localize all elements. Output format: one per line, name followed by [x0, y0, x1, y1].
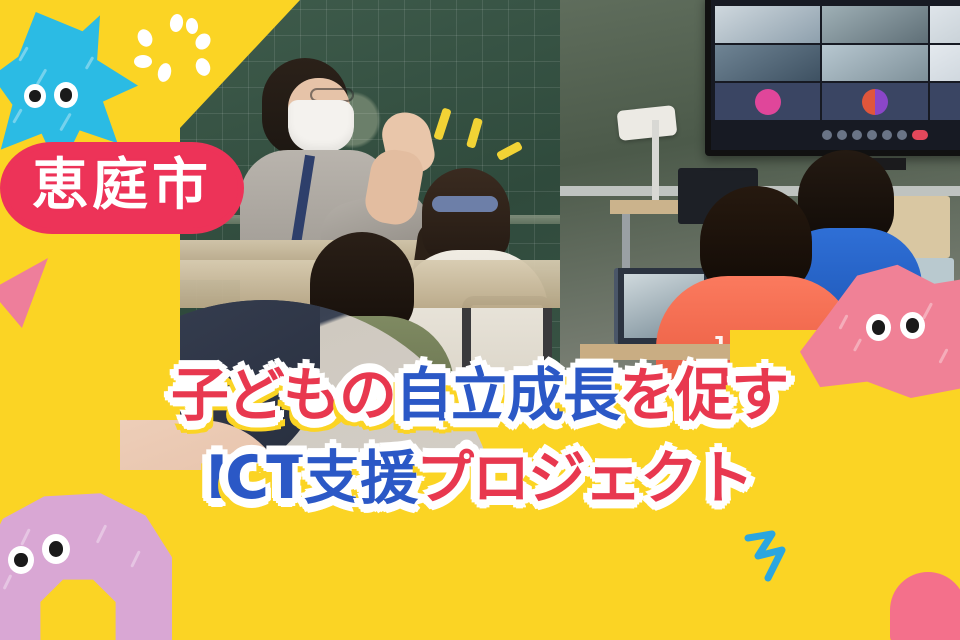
headline-char: 子: [169, 358, 231, 434]
headline-char: ェ: [582, 441, 644, 517]
headline: 子どもの自立成長を促す ICT支援プロジェクト: [0, 358, 960, 518]
headline-char: C: [223, 440, 270, 518]
video-tile: [822, 45, 927, 82]
share-screen-icon: [882, 130, 892, 140]
video-tile: [930, 45, 960, 82]
sparkle-dot-icon: [134, 55, 152, 68]
headline-char: も: [281, 358, 343, 434]
eye-icon: [42, 534, 70, 564]
video-call-control-bar: [711, 124, 960, 146]
eye-icon: [866, 314, 891, 341]
large-display-monitor: [705, 0, 960, 156]
city-badge: 恵庭市: [6, 148, 238, 228]
chalk-dash-icon: [433, 107, 451, 140]
headline-char: 援: [358, 441, 420, 517]
headline-char: 立: [449, 358, 511, 434]
headline-char: ジ: [526, 441, 588, 517]
participants-icon: [852, 130, 862, 140]
headline-char: プ: [414, 441, 476, 517]
eye-icon: [8, 546, 34, 574]
headline-line-1: 子どもの自立成長を促す: [172, 358, 788, 434]
headline-line-2: ICT支援プロジェクト: [207, 440, 753, 518]
headline-char: 長: [561, 358, 623, 434]
video-tile: [715, 6, 820, 43]
headline-char: の: [337, 358, 399, 434]
video-tile: [822, 6, 927, 43]
headline-char: ど: [225, 358, 287, 434]
city-badge-pill: 恵庭市: [6, 148, 238, 228]
eye-icon: [900, 312, 925, 339]
camera-icon: [837, 130, 847, 140]
headline-char: 促: [673, 358, 735, 434]
hangup-icon: [912, 130, 928, 140]
video-tile: [715, 45, 820, 82]
headline-char: ロ: [470, 441, 532, 517]
chat-icon: [867, 130, 877, 140]
headline-char: ク: [638, 441, 700, 517]
face-mask-icon: [288, 100, 354, 152]
hair-band: [432, 196, 498, 212]
avatar: [755, 89, 781, 115]
headline-char: 成: [505, 358, 567, 434]
video-tile: [930, 6, 960, 43]
video-tile-avatar: [822, 83, 927, 120]
chalk-dash-icon: [466, 117, 483, 148]
eye-icon: [54, 82, 78, 108]
headline-char: す: [729, 358, 791, 434]
eye-icon: [24, 84, 46, 108]
headline-char: ト: [694, 441, 756, 517]
video-tile-avatar: [715, 83, 820, 120]
promo-banner: JAPAN: [0, 0, 960, 640]
more-options-icon: [897, 130, 907, 140]
video-call-grid: [715, 6, 960, 120]
document-camera-pole: [652, 120, 659, 210]
document-camera: [617, 105, 678, 141]
chalk-dash-icon: [496, 141, 523, 161]
video-tile-avatar: [930, 83, 960, 120]
microphone-icon: [822, 130, 832, 140]
blue-zigzag-icon: [742, 528, 812, 584]
avatar: [862, 89, 888, 115]
headline-char: 自: [393, 358, 455, 434]
headline-char: 支: [302, 441, 364, 517]
pink-half-circle-icon: [890, 572, 960, 640]
city-badge-label: 恵庭市: [32, 158, 212, 214]
headline-char: を: [617, 358, 679, 434]
